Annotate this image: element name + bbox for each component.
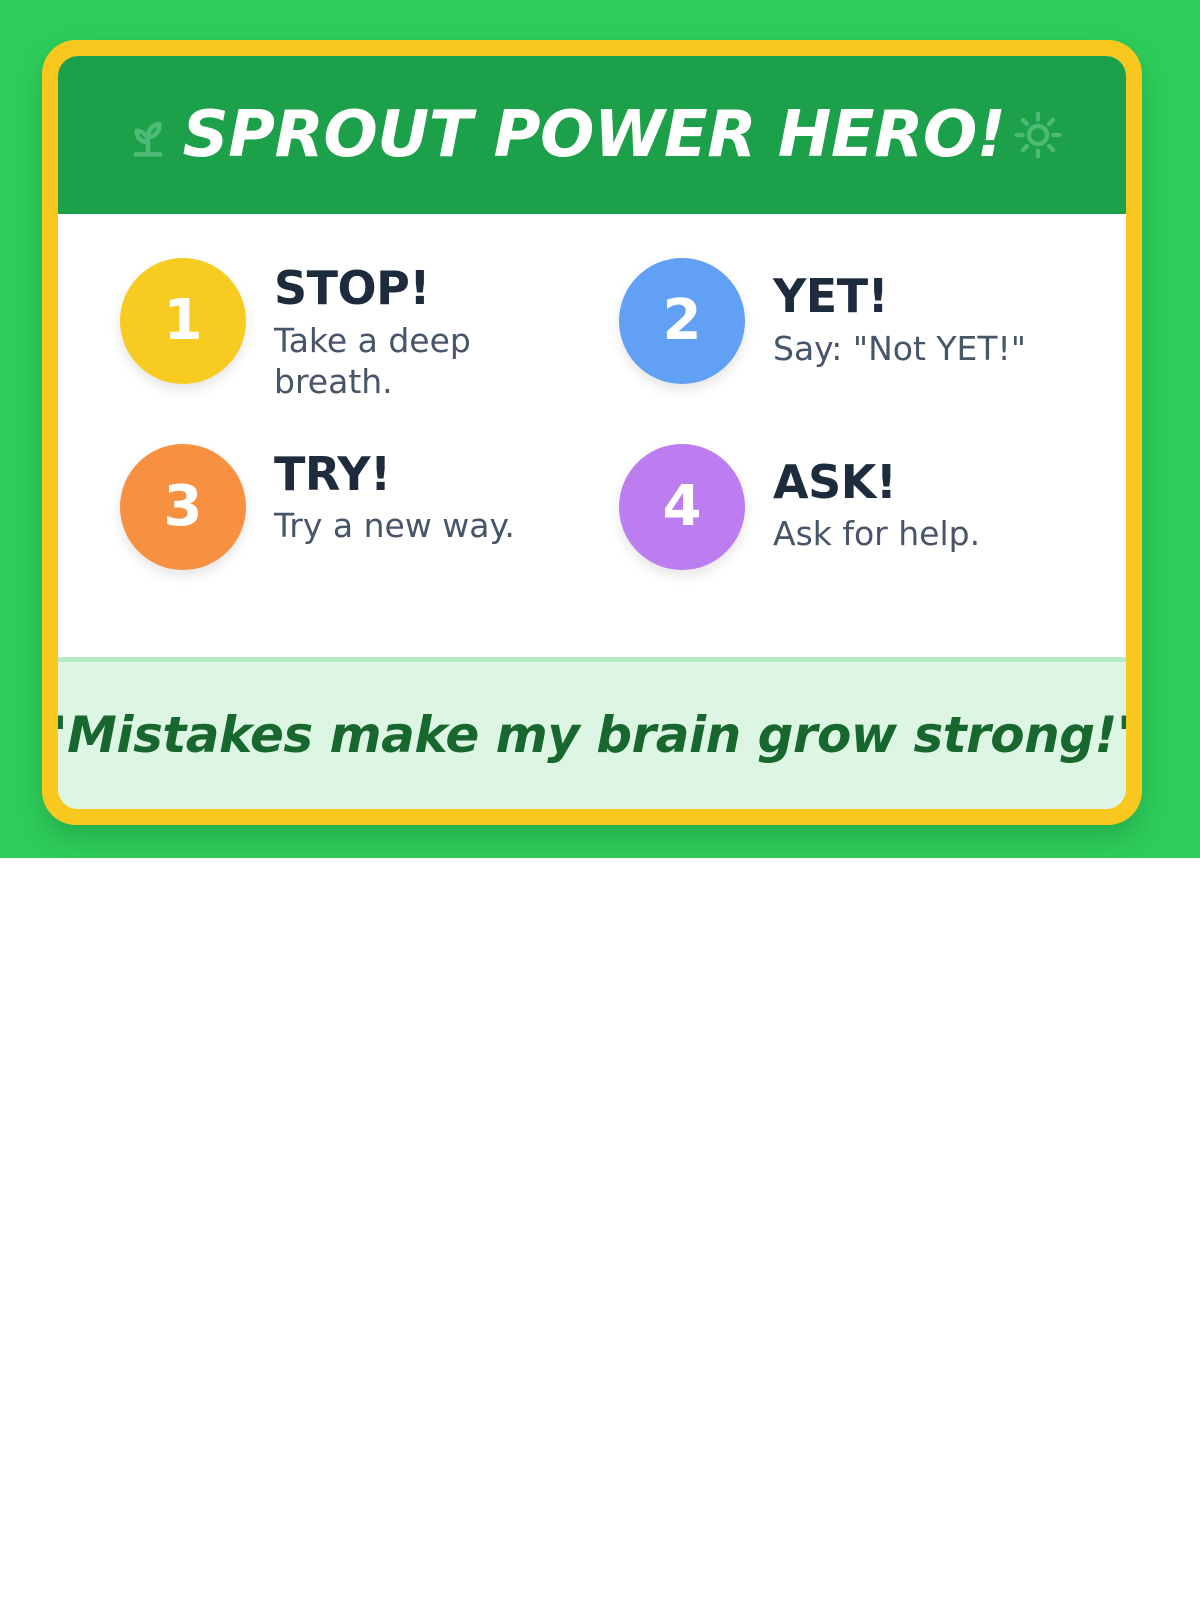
sun-icon	[1011, 108, 1065, 162]
affirmation-quote: "Mistakes make my brain grow strong!"	[58, 708, 1126, 763]
step-number-1: 1	[164, 293, 203, 349]
steps-grid: 1 STOP! Take a deep breath. 2 YET! Say: …	[58, 214, 1126, 657]
step-title-1: STOP!	[274, 264, 597, 314]
step-description-2: Say: "Not YET!"	[773, 328, 1026, 369]
poster-card: SPROUT POWER HERO!	[42, 40, 1142, 825]
step-number-2: 2	[663, 293, 702, 349]
step-description-3: Try a new way.	[274, 505, 515, 546]
step-item-3[interactable]: 3 TRY! Try a new way.	[120, 444, 597, 622]
sprout-icon	[119, 106, 177, 164]
step-number-3: 3	[164, 479, 203, 535]
step-text-4: ASK! Ask for help.	[773, 444, 980, 555]
poster-footer: "Mistakes make my brain grow strong!"	[58, 657, 1126, 809]
poster-card-inner: SPROUT POWER HERO!	[58, 56, 1126, 809]
step-text-2: YET! Say: "Not YET!"	[773, 258, 1026, 369]
step-number-badge-3: 3	[120, 444, 246, 570]
step-title-3: TRY!	[274, 450, 515, 500]
step-item-1[interactable]: 1 STOP! Take a deep breath.	[120, 258, 597, 436]
step-number-badge-2: 2	[619, 258, 745, 384]
step-number-badge-4: 4	[619, 444, 745, 570]
step-description-1: Take a deep breath.	[274, 320, 597, 403]
step-text-3: TRY! Try a new way.	[274, 444, 515, 547]
step-item-2[interactable]: 2 YET! Say: "Not YET!"	[619, 258, 1096, 436]
step-title-4: ASK!	[773, 458, 980, 508]
poster-stage: SPROUT POWER HERO!	[0, 0, 1200, 858]
step-title-2: YET!	[773, 272, 1026, 322]
poster-header: SPROUT POWER HERO!	[58, 56, 1126, 214]
step-item-4[interactable]: 4 ASK! Ask for help.	[619, 444, 1096, 622]
step-description-4: Ask for help.	[773, 513, 980, 554]
step-number-4: 4	[663, 479, 702, 535]
step-text-1: STOP! Take a deep breath.	[274, 258, 597, 402]
page-title: SPROUT POWER HERO!	[183, 103, 1006, 167]
step-number-badge-1: 1	[120, 258, 246, 384]
